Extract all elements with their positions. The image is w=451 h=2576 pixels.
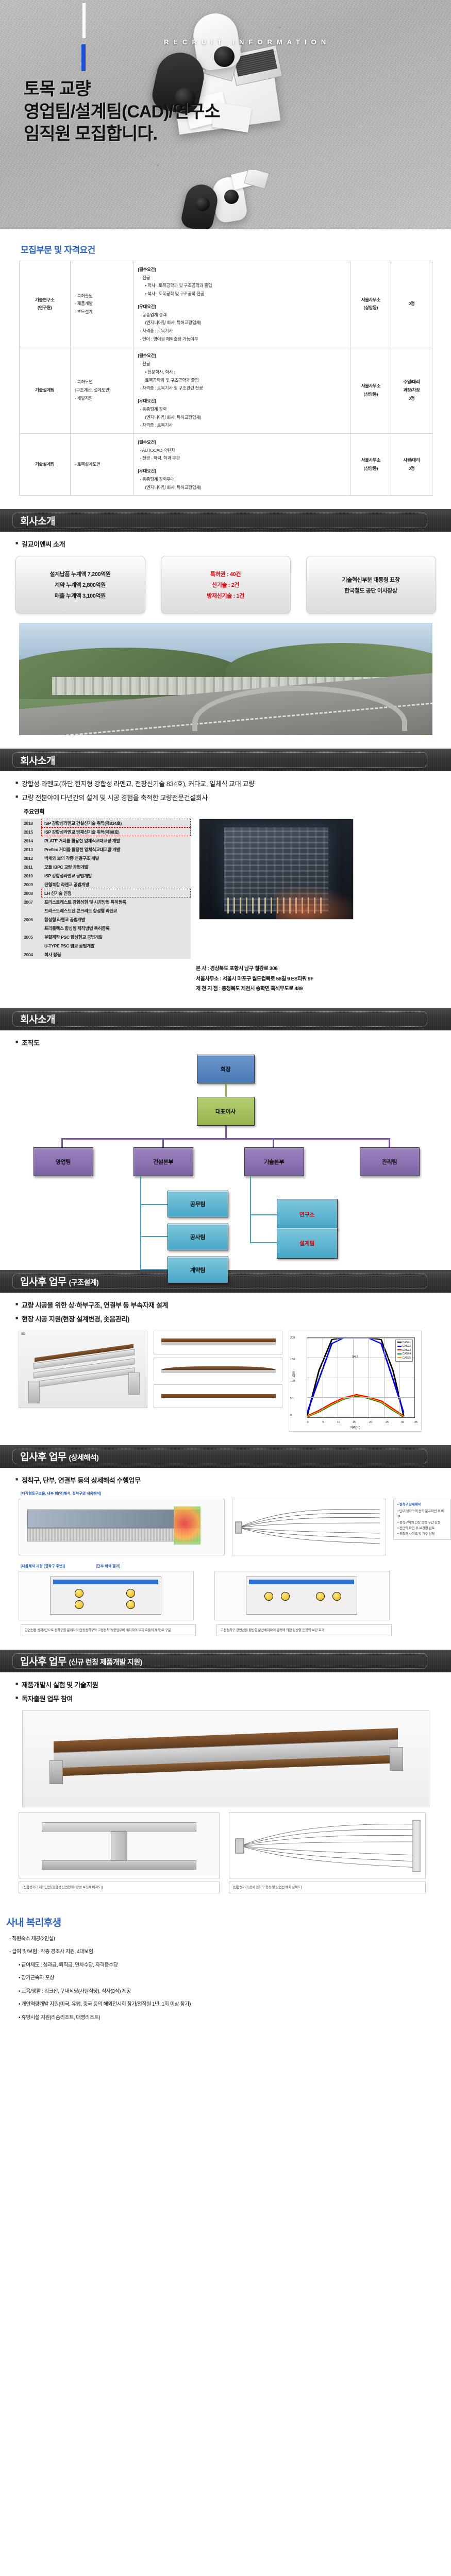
figure-section-anchor-split <box>19 1571 194 1620</box>
section-header-company-intro: 회사소개 <box>0 509 451 532</box>
section-header-work-rnd: 입사후 업무 (신규 런칭 제품개발 지원) <box>0 1650 451 1672</box>
history-event: 프리플렉스 합성형 제작방법 특허등록 <box>41 924 191 933</box>
history-year: 2018 <box>21 819 41 827</box>
square-bullet-icon: ■ <box>15 1680 18 1688</box>
history-year: 2014 <box>21 836 41 845</box>
benefit-item: - 직원숙소 제공(2인실) <box>9 1934 451 1944</box>
history-year <box>21 924 41 933</box>
history-event: 벽체와 보의 각종 연결구조 개발 <box>41 854 191 862</box>
work-detail-bullet-1: ■ 정착구, 단부, 연결부 등의 상세해석 수행업무 <box>15 1475 451 1485</box>
chart-xtick: 20 <box>369 1421 372 1424</box>
cell-count: 0명 <box>391 261 432 347</box>
cell-duties: - 특허출원 - 제품개발 - 초도설계 <box>70 261 133 347</box>
org-edge <box>140 1176 141 1270</box>
figure-girder-3d: 3D <box>19 1331 147 1408</box>
section-title: 회사소개 <box>20 514 55 528</box>
benefits-heading: 사내 복리후생 <box>6 1915 451 1929</box>
history-year: 2012 <box>21 854 41 862</box>
org-edge <box>140 1204 169 1205</box>
note-line: • 전단력 확인 후 보강판 검토 <box>397 1526 447 1531</box>
deck-slab <box>161 1366 276 1370</box>
address-block: 본 사 : 경상북도 포항시 남구 철강로 306 서울사무소 : 서울시 마포… <box>196 964 451 994</box>
person-head <box>224 190 239 204</box>
stress-contour <box>174 1506 201 1545</box>
hero-banner: RECRUIT INFORMATION 토목 교량 영업팀/설계팀(CAD)/연… <box>0 0 451 229</box>
chart-xtick: 5 <box>322 1421 324 1424</box>
figure-section-anchor-spread <box>214 1571 390 1620</box>
work-detail-anchor-notes: • 정착구 상세해석 • 단부 정착구역 응력 분포확인 후 배근 • 정착구역… <box>393 1499 451 1540</box>
history-row: 2009판형복합 라멘교 공법개발 <box>21 880 191 889</box>
end-block <box>390 1747 403 1771</box>
bottom-flange <box>42 1860 196 1870</box>
figure-caption: 3D <box>21 1333 25 1336</box>
history-event: 모듈 IBPC 교량 공법개발 <box>41 862 191 871</box>
work-detail-fig-label-top-left: [다각형토구조물, 내부 힘(역)해석, 정착구의 내몸해석] <box>21 1491 451 1496</box>
hero-walking-people <box>137 170 260 229</box>
chart-xtick: 30 <box>401 1421 404 1424</box>
work-rnd-note-right: [신합성거더 상세 정착구 형상 및 강연선 배치 상세도] <box>229 1882 426 1893</box>
anchor-device-icon <box>281 1592 290 1601</box>
history-row: 2004회사 창립 <box>21 950 191 959</box>
chart-xtick: 35 <box>414 1421 417 1424</box>
cell-location: 서울사무소 (상암동) <box>350 347 391 433</box>
bridge-pier <box>128 1372 140 1395</box>
anchor-device-icon <box>75 1589 83 1598</box>
history-bullet-1: ■ 강합성 라멘교(하단 힌지형 강합성 라멘교, 전장신기술 834호), 커… <box>15 778 451 788</box>
org-node-construction-division: 건설본부 <box>133 1147 193 1176</box>
history-event: 프리스트레스트 강합성형 및 시공방법 특허등록 <box>41 897 191 906</box>
org-edge <box>140 1236 169 1237</box>
bridge-pier <box>28 1381 40 1403</box>
figure-cable-layout <box>232 1499 387 1555</box>
section-title: 회사소개 <box>20 1012 55 1026</box>
org-node-research-institute: 연구소 <box>277 1199 338 1230</box>
company-intro-subtitle: ■ 길교이앤씨 소개 <box>15 539 451 549</box>
cell-department: 기술설계팀 <box>19 433 70 495</box>
work-detail-fig-label-bot-right: [단부 해석 결과] <box>96 1564 120 1569</box>
org-node-technical-division: 기술본부 <box>244 1147 304 1176</box>
org-node-sales-team: 영업팀 <box>34 1147 93 1176</box>
stat-box-group: 설계납품 누계액 7,200억원 계약 누계액 2,800억원 매출 누계액 3… <box>0 556 451 614</box>
cell-department: 기술연구소 (연구원) <box>19 261 70 347</box>
legend-label: CASE5 <box>403 1357 411 1360</box>
section-header-work-detail: 입사후 업무 (상세해석) <box>0 1445 451 1468</box>
address-jecheon-branch: 제 천 지 점 : 충청북도 제천시 송학면 흑석무도로 489 <box>196 984 451 994</box>
section-header-history: 회사소개 <box>0 749 451 771</box>
chart-ylabel: 응력 <box>291 1371 295 1377</box>
cell-requirements: [필수요건] - 전공 • 학사 : 토목공학과 및 구조공학과 졸업 • 석사… <box>133 261 350 347</box>
cable-svg <box>232 1499 387 1555</box>
benefit-item: • 급여제도 : 성과급, 퇴직금, 연차수당, 자격증수당 <box>19 1960 451 1971</box>
legend-swatch <box>397 1357 402 1358</box>
chart-legend-item: CASE3 <box>397 1349 411 1353</box>
address-seoul-office: 서울사무소 : 서울시 마포구 월드컵북로 58길 9 ES타워 9F <box>196 974 451 985</box>
org-edge-bus <box>61 1138 390 1140</box>
history-year: 2004 <box>21 950 41 959</box>
chart-xtick: 25 <box>386 1421 389 1424</box>
square-bullet-icon: ■ <box>15 1300 18 1309</box>
organization-chart: 회장 대표이사 영업팀 건설본부 기술본부 관리팀 공무팀 공사팀 계약팀 연구… <box>19 1050 432 1257</box>
work-detail-note-right: 고정정착구 강연선을 횡방향 분산배치하여 분력에 의한 횡방향 인장력 보강 … <box>216 1624 392 1636</box>
org-node-contract-team: 계약팀 <box>168 1257 228 1283</box>
accent-bar-blue <box>81 44 86 71</box>
history-row: 2011모듈 IBPC 교량 공법개발 <box>21 862 191 871</box>
legend-swatch <box>397 1349 402 1350</box>
figure-section-a <box>154 1331 282 1354</box>
stress-diagram-chart: 응력 54.6 2 <box>289 1331 422 1432</box>
figure-section-b <box>154 1358 282 1381</box>
org-edge <box>250 1176 251 1242</box>
history-event: Preflex 거더를 활용한 일체식교대교량 개발 <box>41 845 191 854</box>
work-rnd-note-left: [신합성거더 제작단면 (강합성 단면형태 / 강성 보강재 배치도)] <box>19 1882 220 1893</box>
office-building-photo <box>199 819 354 920</box>
work-rnd-bullet-1: ■ 제품개발시 실험 및 기술지원 <box>15 1680 451 1689</box>
org-node-works-team: 공사팀 <box>168 1224 228 1250</box>
legend-swatch <box>397 1342 402 1343</box>
anchor-device-icon <box>126 1600 135 1609</box>
chart-ytick: 0 <box>290 1414 292 1417</box>
hero-title-block: 토목 교량 영업팀/설계팀(CAD)/연구소 임직원 모집합니다. <box>0 78 451 146</box>
benefit-item: • 휴양시설 지원(리솜리조트, 대명리조트) <box>19 2013 451 2023</box>
history-table: 2018ISP 강합성라멘교 건설신기술 취득(제834호)2015ISP 강합… <box>21 819 191 959</box>
legend-label: CASE3 <box>403 1349 411 1352</box>
cell-location: 서울사무소 (상암동) <box>350 261 391 347</box>
work-detail-figures-bottom <box>19 1571 451 1620</box>
history-event: 회사 창립 <box>41 950 191 959</box>
note-line: • 정착구역의 인장 응력 구간 산정 <box>397 1520 447 1526</box>
work-detail-note-left: 강연선을 상하2단으로 정착구를 분리하여 인장정착구와 고정정착구(중앙부에 … <box>21 1624 196 1636</box>
history-year <box>21 906 41 915</box>
chart-legend: CASE1CASE2CASE3CASE4CASE5 <box>395 1340 413 1362</box>
history-event: LH 신기술 인정 <box>41 889 191 897</box>
cable-detail-svg <box>229 1813 426 1878</box>
legend-swatch <box>397 1353 402 1354</box>
anchor-device-icon <box>264 1592 273 1601</box>
end-block <box>49 1760 63 1784</box>
legend-label: CASE1 <box>403 1341 411 1344</box>
table-row: 기술설계팀 - 특허도면 (구조계산, 설계도면) - 개발지원 [필수요건] … <box>19 347 432 433</box>
history-year: 2008 <box>21 889 41 897</box>
cell-location: 서울사무소 (상암동) <box>350 433 391 495</box>
table-row: 기술연구소 (연구원) - 특허출원 - 제품개발 - 초도설계 [필수요건] … <box>19 261 432 347</box>
history-row: 2015ISP 강합성라멘교 방재신기술 취득(제88호) <box>21 827 191 836</box>
square-bullet-icon: ■ <box>15 1314 18 1323</box>
org-node-management-team: 관리팀 <box>360 1147 420 1176</box>
org-subtitle: ■ 조직도 <box>15 1038 451 1047</box>
org-edge <box>225 1083 227 1097</box>
recruit-heading: 모집부문 및 자격요건 <box>21 243 451 256</box>
hero-lower-photo-strip <box>0 170 451 229</box>
figure-section-c <box>154 1384 282 1408</box>
chart-legend-item: CASE5 <box>397 1357 411 1361</box>
chart-xtick: 0 <box>307 1421 308 1424</box>
history-year: 2009 <box>21 880 41 889</box>
figure-rnd-section <box>19 1812 220 1878</box>
history-row: 프리스트레스트된 콘크리트 합성형 라멘교 <box>21 906 191 915</box>
history-row: 2018ISP 강합성라멘교 건설신기술 취득(제834호) <box>21 819 191 827</box>
history-table-title: 주요연혁 <box>24 807 451 816</box>
work-structural-bullet-1: ■ 교량 시공을 위한 상·하부구조, 연결부 등 부속자재 설계 <box>15 1300 451 1310</box>
hero-title-line-1: 토목 교량 <box>24 78 451 101</box>
cell-count: 사원/대리 0명 <box>391 433 432 495</box>
square-bullet-icon: ■ <box>15 1693 18 1702</box>
work-rnd-bullet-2: ■ 독자출원 업무 참여 <box>15 1693 451 1703</box>
org-node-design-team: 설계팀 <box>277 1228 338 1259</box>
work-detail-figures-top: • 정착구 상세해석 • 단부 정착구역 응력 분포확인 후 배근 • 정착구역… <box>19 1499 451 1555</box>
girder-beam <box>161 1370 276 1373</box>
figure-composite-girder-3d <box>22 1710 429 1807</box>
cell-requirements: [필수요건] - 전공 • 전문학사, 학사 : 토목공학과 및 구조공학과 졸… <box>133 347 350 433</box>
cell-count: 주임/대리 과장/차장 0명 <box>391 347 432 433</box>
history-year: 2006 <box>21 915 41 924</box>
org-node-chairman: 회장 <box>197 1055 255 1083</box>
chart-ytick: 100 <box>290 1380 295 1383</box>
history-year <box>21 941 41 950</box>
chart-legend-item: CASE1 <box>397 1341 411 1345</box>
person-head <box>214 46 235 67</box>
org-edge <box>162 1138 164 1147</box>
history-row: 2014PLATE 거더를 활용한 일체식교대교량 개발 <box>21 836 191 845</box>
section-header-org: 회사소개 <box>0 1008 451 1030</box>
recruit-page: RECRUIT INFORMATION 토목 교량 영업팀/설계팀(CAD)/연… <box>0 0 451 2043</box>
history-event: 판형복합 라멘교 공법개발 <box>41 880 191 889</box>
chart-ytick: 150 <box>290 1358 295 1361</box>
benefit-item: • 개인역량개발 지원(미국, 유럽, 중국 등의 해외전시회 참가/전직원 1… <box>19 1999 451 2010</box>
square-bullet-icon: ■ <box>15 792 18 801</box>
web-plate <box>111 1832 127 1860</box>
note-line: • 단부 정착구역 응력 분포확인 후 배근 <box>397 1509 447 1520</box>
org-edge <box>225 1126 227 1138</box>
history-year: 2010 <box>21 871 41 880</box>
square-bullet-icon: ■ <box>15 778 18 787</box>
chart-annotation: 54.6 <box>352 1355 358 1359</box>
square-bullet-icon: ■ <box>15 1038 18 1046</box>
cell-department: 기술설계팀 <box>19 347 70 433</box>
history-year: 2007 <box>21 897 41 906</box>
work-rnd-figure-main <box>22 1710 429 1807</box>
history-event: 합성형 라멘교 공법개발 <box>41 915 191 924</box>
top-flange <box>42 1822 196 1832</box>
org-edge <box>389 1138 390 1147</box>
chart-legend-item: CASE2 <box>397 1345 411 1349</box>
work-structural-bullet-2: ■ 현장 시공 지원(현장 설계변경, 솟음관리) <box>15 1314 451 1324</box>
history-row: 2005분할제작 PSC 합성형교 공법개발 <box>21 933 191 941</box>
legend-label: CASE4 <box>403 1352 411 1355</box>
anchor-device-icon <box>332 1592 341 1601</box>
history-bullet-2: ■ 교량 전분야에 다년간의 설계 및 시공 경험을 축적한 교량전문건설회사 <box>15 792 451 802</box>
square-bullet-icon: ■ <box>15 1475 18 1484</box>
section-title: 입사후 업무 (상세해석) <box>20 1449 98 1463</box>
note-line: • 정착판 사이즈 및 개수 산정 <box>397 1531 447 1537</box>
history-year: 2011 <box>21 862 41 871</box>
cell-duties: - 토목설계도면 <box>70 433 133 495</box>
deck-slab <box>161 1338 276 1342</box>
deck-band <box>53 1580 158 1584</box>
hero-title-line-2: 영업팀/설계팀(CAD)/연구소 <box>24 101 451 124</box>
history-row: U-TYPE PSC 빔교 공법개발 <box>21 941 191 950</box>
chart-legend-item: CASE4 <box>397 1352 411 1357</box>
benefit-item: • 장기근속자 포상 <box>19 1973 451 1984</box>
chart-ytick: 50 <box>290 1397 293 1400</box>
cell-requirements: [필수요건] - AUTOCAD 숙련자 - 전공 · 학력, 학과 무관 [우… <box>133 433 350 495</box>
deck-band <box>249 1580 354 1584</box>
org-edge <box>61 1138 63 1147</box>
chart-xtick: 10 <box>337 1421 340 1424</box>
org-edge <box>140 1269 169 1270</box>
chart-xtick: 15 <box>353 1421 356 1424</box>
history-row: 2012벽체와 보의 각종 연결구조 개발 <box>21 854 191 862</box>
hero-kicker: RECRUIT INFORMATION <box>164 38 330 46</box>
anchor-device-icon <box>316 1592 325 1601</box>
legend-swatch <box>397 1346 402 1347</box>
benefits-list: - 직원숙소 제공(2인실)- 급여 및/보험 : 각종 경조사 지원, 4대보… <box>0 1934 451 2023</box>
org-edge <box>250 1214 278 1215</box>
section-title: 입사후 업무 (신규 런칭 제품개발 지원) <box>20 1654 142 1668</box>
section-title: 회사소개 <box>20 753 55 767</box>
hero-title-line-3: 임직원 모집합니다. <box>24 123 451 146</box>
history-event: PLATE 거더를 활용한 일체식교대교량 개발 <box>41 836 191 845</box>
history-row: 2006합성형 라멘교 공법개발 <box>21 915 191 924</box>
chart-xlabel: 거리(m) <box>350 1425 360 1430</box>
org-edge <box>250 1242 278 1243</box>
cell-duties: - 특허도면 (구조계산, 설계도면) - 개발지원 <box>70 347 133 433</box>
history-row: 프리플렉스 합성형 제작방법 특허등록 <box>21 924 191 933</box>
org-edge <box>273 1138 274 1147</box>
figure-anchor-stress-contour <box>19 1499 225 1555</box>
legend-label: CASE2 <box>403 1345 411 1348</box>
history-section: 2018ISP 강합성라멘교 건설신기술 취득(제834호)2015ISP 강합… <box>21 819 451 959</box>
anchor-device-icon <box>75 1600 83 1609</box>
history-event: 분할제작 PSC 합성형교 공법개발 <box>41 933 191 941</box>
stat-box-revenue: 설계납품 누계액 7,200억원 계약 누계액 2,800억원 매출 누계액 3… <box>15 556 145 614</box>
bridge-aerial-photo <box>19 623 432 735</box>
history-event: 프리스트레스트된 콘크리트 합성형 라멘교 <box>41 906 191 915</box>
history-year: 2015 <box>21 827 41 836</box>
history-event: U-TYPE PSC 빔교 공법개발 <box>41 941 191 950</box>
benefit-item: • 교육/생활 : 워크샵, 구내식당(사원식당), 식사(3식) 제공 <box>19 1987 451 1997</box>
anchor-device-icon <box>126 1589 135 1598</box>
address-headquarters: 본 사 : 경상북도 포항시 남구 철강로 306 <box>196 964 451 974</box>
work-detail-fig-label-bot-left: [내몸해석 과정 (정착구 주변)] <box>21 1564 65 1569</box>
work-structural-figures: 3D 응력 <box>19 1331 451 1432</box>
history-row: 2013Preflex 거더를 활용한 일체식교대교량 개발 <box>21 845 191 854</box>
figure-rnd-cable-detail <box>229 1812 426 1878</box>
history-event: ISP 강합성라멘교 건설신기술 취득(제834호) <box>41 819 191 827</box>
benefit-item: - 급여 및/보험 : 각종 경조사 지원, 4대보험 <box>9 1947 451 1957</box>
table-row: 기술설계팀 - 토목설계도면 [필수요건] - AUTOCAD 숙련자 - 전공… <box>19 433 432 495</box>
history-row: 2010ISP 강합성라멘교 공법개발 <box>21 871 191 880</box>
recruit-table: 기술연구소 (연구원) - 특허출원 - 제품개발 - 초도설계 [필수요건] … <box>19 261 432 496</box>
square-bullet-icon: ■ <box>15 539 18 548</box>
accent-bar-white <box>82 3 86 38</box>
history-event: ISP 강합성라멘교 방재신기술 취득(제88호) <box>41 827 191 836</box>
history-row: 2008LH 신기술 인정 <box>21 889 191 897</box>
girder-beam <box>161 1342 276 1345</box>
history-year: 2005 <box>21 933 41 941</box>
stat-box-patents: 특허권 : 40건 신기술 : 2건 방재신기술 : 1건 <box>161 556 291 614</box>
work-rnd-figures-bottom <box>19 1812 451 1878</box>
history-event: ISP 강합성라멘교 공법개발 <box>41 871 191 880</box>
history-year: 2013 <box>21 845 41 854</box>
org-node-affairs-team: 공무팀 <box>168 1191 228 1217</box>
org-node-ceo: 대표이사 <box>197 1097 255 1126</box>
deck-slab <box>161 1394 276 1398</box>
section-title: 입사후 업무 (구조설계) <box>20 1274 98 1288</box>
history-row: 2007프리스트레스트 강합성형 및 시공방법 특허등록 <box>21 897 191 906</box>
note-title: • 정착구 상세해석 <box>397 1502 447 1507</box>
stat-box-awards: 기술혁신부분 대통령 표창 한국철도 공단 이사장상 <box>306 556 436 614</box>
light-flare <box>276 882 354 920</box>
chart-ytick: 200 <box>290 1336 295 1340</box>
person-head <box>195 197 210 211</box>
